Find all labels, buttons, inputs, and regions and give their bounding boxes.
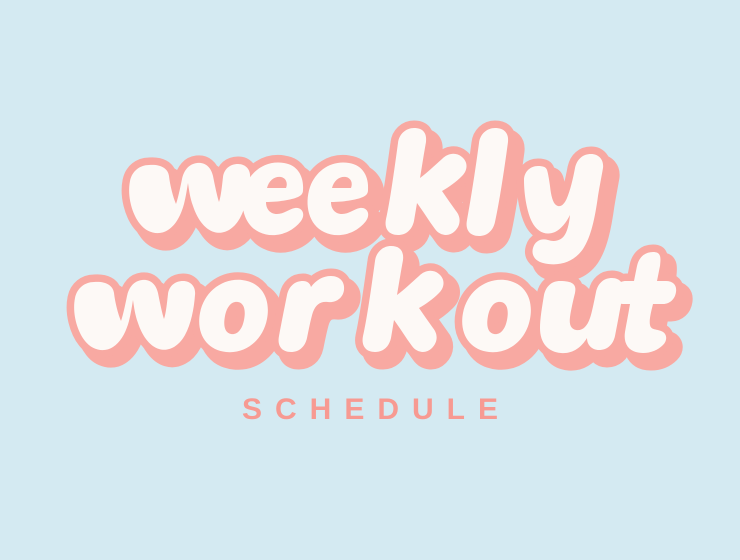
title-word-workout: workout (64, 240, 680, 362)
title-block: weekly (0, 0, 740, 560)
subtitle-schedule: SCHEDULE (0, 390, 740, 430)
poster-canvas: weekly (0, 0, 740, 560)
title-word-weekly: weekly (118, 118, 634, 253)
